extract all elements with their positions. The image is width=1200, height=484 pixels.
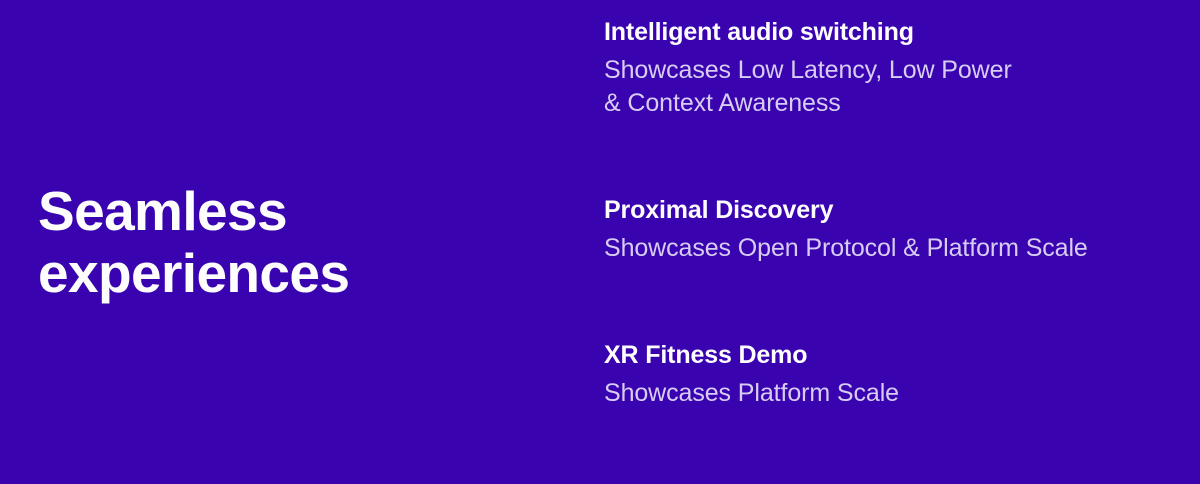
slide: Seamless experiences Intelligent audio s…	[0, 0, 1200, 484]
list-item: Intelligent audio switching Showcases Lo…	[604, 16, 1184, 120]
list-item: Proximal Discovery Showcases Open Protoc…	[604, 194, 1184, 265]
slide-right-column: Intelligent audio switching Showcases Lo…	[604, 0, 1200, 484]
page-title: Seamless experiences	[38, 180, 418, 304]
feature-title: Proximal Discovery	[604, 194, 1184, 226]
feature-list: Intelligent audio switching Showcases Lo…	[604, 16, 1184, 410]
feature-title: XR Fitness Demo	[604, 339, 1184, 371]
slide-left-column: Seamless experiences	[0, 0, 604, 484]
feature-description: Showcases Platform Scale	[604, 377, 1184, 410]
list-item: XR Fitness Demo Showcases Platform Scale	[604, 339, 1184, 410]
feature-description: Showcases Low Latency, Low Power & Conte…	[604, 54, 1184, 120]
feature-description: Showcases Open Protocol & Platform Scale	[604, 232, 1184, 265]
feature-title: Intelligent audio switching	[604, 16, 1184, 48]
